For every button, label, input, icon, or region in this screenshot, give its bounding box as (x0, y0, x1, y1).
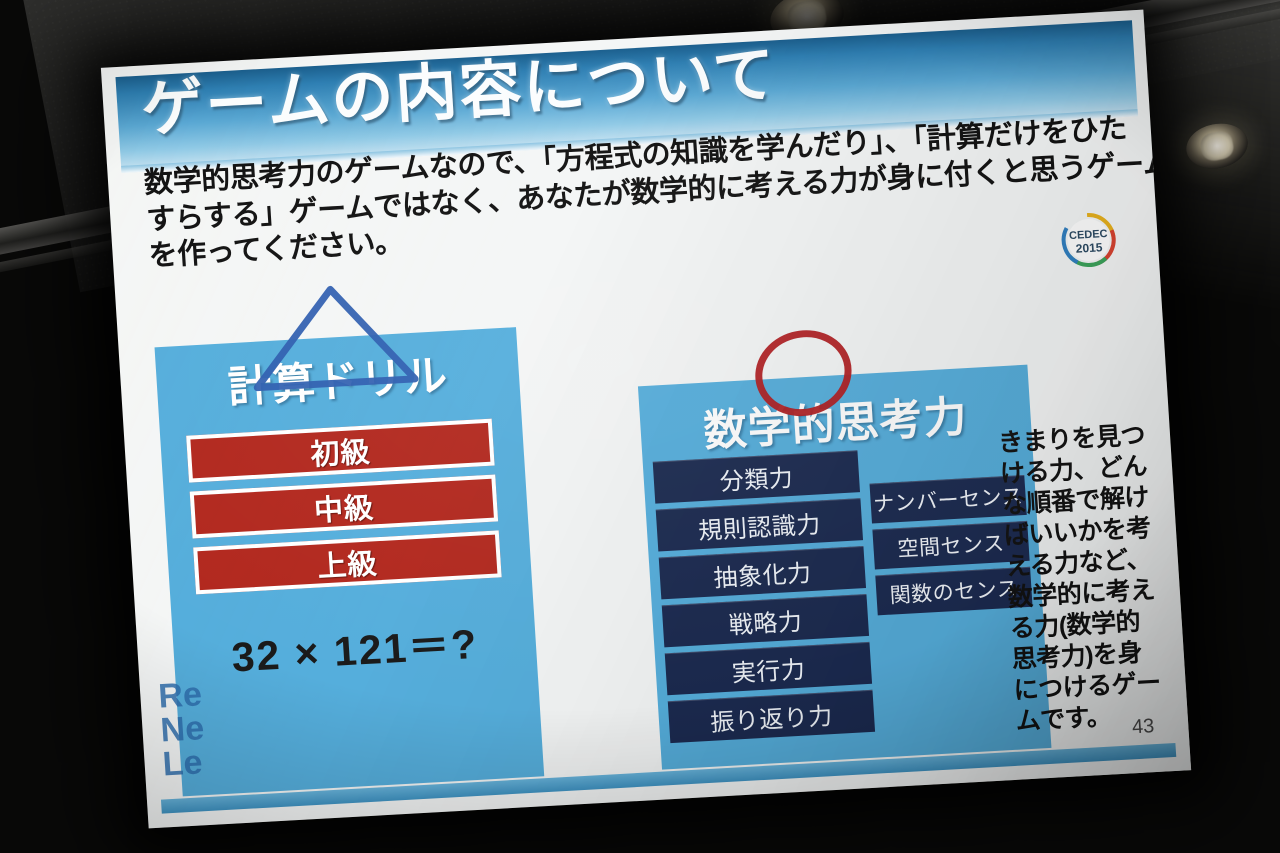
cedec-2015-logo-icon: CEDEC 2015 (1056, 207, 1122, 272)
downlight-bulb (1198, 129, 1235, 163)
skill-chip: 抽象化力 (659, 546, 866, 599)
sample-equation: 32 × 121＝? (172, 607, 537, 687)
page-number: 43 (1131, 715, 1155, 739)
level-chip-beginner: 初級 (186, 419, 494, 483)
skill-chip: 規則認識力 (656, 498, 863, 551)
level-chip-intermediate: 中級 (190, 475, 498, 539)
skill-chip: 振り返り力 (668, 690, 875, 743)
skill-chip-grid: 分類力 規則認識力 抽象化力 戦略力 実行力 振り返り力 ナンバーセンス 空間セ… (653, 441, 1040, 743)
projection-screen: ゲームの内容について 数学的思考力のゲームなので、「方程式の知識を学んだり」、「… (101, 10, 1191, 829)
level-chip-advanced: 上級 (193, 530, 501, 594)
skill-column-primary: 分類力 規則認識力 抽象化力 戦略力 実行力 振り返り力 (653, 450, 875, 743)
cedec-logo-line2: 2015 (1075, 240, 1103, 255)
skill-chip: 戦略力 (662, 594, 869, 647)
circle-annotation-icon (749, 326, 858, 420)
organization-watermark: Re Ne Le (157, 671, 313, 781)
side-note-text: きまりを見つ ける力、どん な順番で解け ばいいかを考 える力など、 数学的に考… (997, 420, 1166, 738)
skill-chip: 実行力 (665, 642, 872, 695)
mathematical-thinking-panel: 数学的思考力 分類力 規則認識力 抽象化力 戦略力 実行力 振り返り力 ナンバー… (638, 365, 1052, 770)
triangle-annotation-icon (245, 277, 422, 396)
slide-surface: ゲームの内容について 数学的思考力のゲームなので、「方程式の知識を学んだり」、「… (101, 10, 1191, 829)
photo-scene: ゲームの内容について 数学的思考力のゲームなので、「方程式の知識を学んだり」、「… (0, 0, 1280, 853)
